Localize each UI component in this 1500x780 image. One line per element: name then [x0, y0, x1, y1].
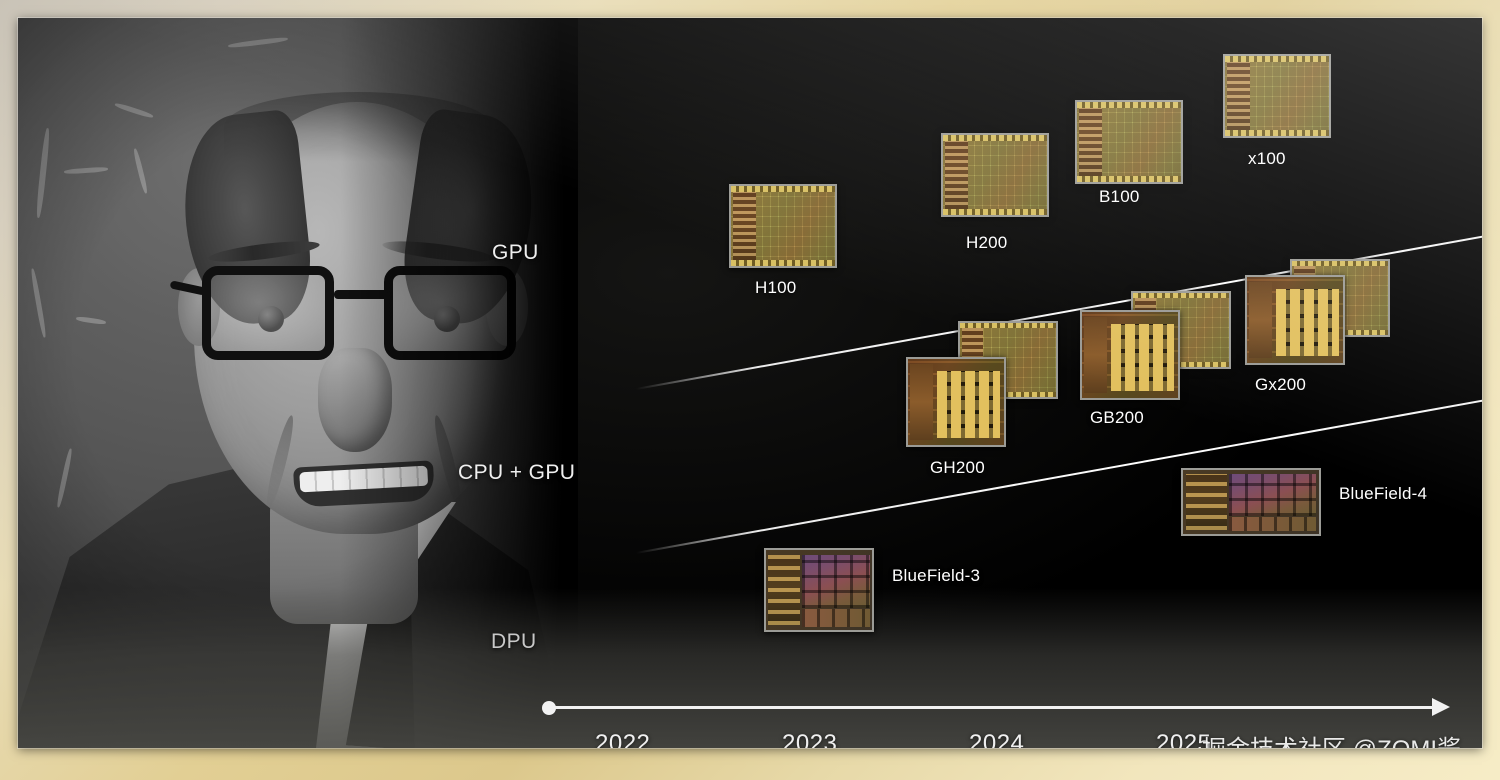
chip-label-bluefield3: BlueField-3 [892, 566, 980, 586]
lane-label-dpu: DPU [491, 630, 537, 654]
slide-canvas: GPU CPU + GPU DPU H100 H200 B100 x100 GH… [18, 18, 1482, 748]
die-surface [943, 135, 1047, 215]
timeline-line [552, 706, 1432, 709]
chip-label-h100: H100 [755, 278, 796, 298]
timeline-year-2023: 2023 [782, 730, 837, 748]
chip-die-h200[interactable] [941, 133, 1049, 217]
chip-die-bluefield4[interactable] [1181, 468, 1321, 536]
watermark-text: 掘金技术社区 @ZOMI酱 [1202, 729, 1461, 748]
die-surface [1183, 470, 1319, 534]
chip-die-gb200-cpu[interactable] [1080, 310, 1180, 400]
chip-die-gx200-cpu[interactable] [1245, 275, 1345, 365]
chip-label-x100: x100 [1248, 149, 1286, 169]
portrait-photo [18, 18, 638, 748]
right-arrow-icon [1432, 698, 1450, 716]
die-surface [1247, 277, 1343, 363]
die-surface [1225, 56, 1329, 136]
die-surface [766, 550, 872, 630]
chip-die-bluefield3[interactable] [764, 548, 874, 632]
chip-label-h200: H200 [966, 233, 1007, 253]
chip-label-gh200: GH200 [930, 458, 985, 478]
timeline-axis [542, 702, 1442, 714]
die-surface [1077, 102, 1181, 182]
chip-label-bluefield4: BlueField-4 [1339, 484, 1427, 504]
lane-label-gpu: GPU [492, 241, 539, 265]
timeline-year-2024: 2024 [969, 730, 1024, 748]
lane-label-cpu-gpu: CPU + GPU [458, 461, 575, 485]
chip-label-gb200: GB200 [1090, 408, 1144, 428]
chip-die-h100[interactable] [729, 184, 837, 268]
die-surface [1082, 312, 1178, 398]
chip-die-b100[interactable] [1075, 100, 1183, 184]
chip-die-x100[interactable] [1223, 54, 1331, 138]
chip-label-b100: B100 [1099, 187, 1140, 207]
die-surface [731, 186, 835, 266]
photo-fade-to-black [18, 18, 638, 748]
chip-label-gx200: Gx200 [1255, 375, 1306, 395]
die-surface [908, 359, 1004, 445]
chip-die-gh200-cpu[interactable] [906, 357, 1006, 447]
lane-divider-dpu [636, 396, 1482, 554]
slide-frame: GPU CPU + GPU DPU H100 H200 B100 x100 GH… [0, 0, 1500, 780]
timeline-year-2022: 2022 [595, 730, 650, 748]
